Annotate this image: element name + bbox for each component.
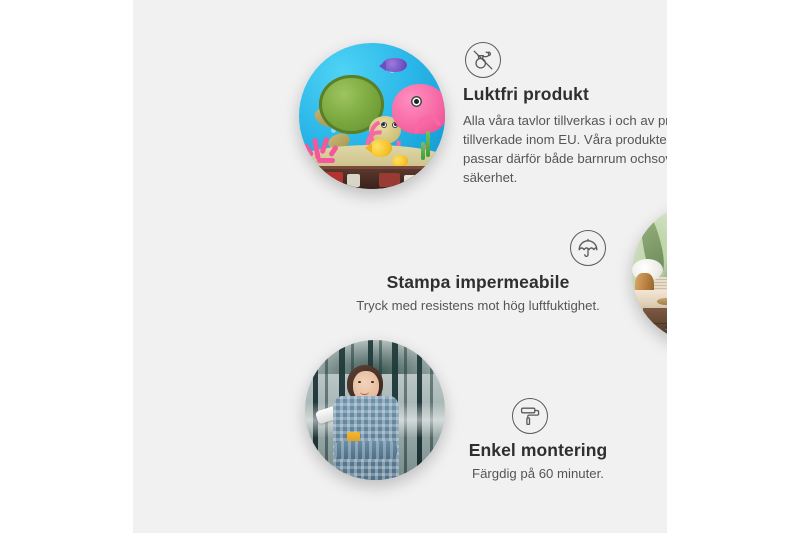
vanity-seam: [643, 323, 667, 325]
seaweed: [426, 131, 430, 157]
bottom-strip: [299, 169, 445, 189]
feature-waterproof: Stampa impermeabile Tryck med resistens …: [338, 230, 618, 315]
feature-title: Luktfri produkt: [463, 84, 667, 105]
no-odor-icon: [465, 42, 501, 78]
person-plaid-shirt: [333, 396, 399, 480]
person-eye: [371, 381, 374, 383]
feature-title: Stampa impermeabile: [338, 272, 618, 293]
person-smile: [360, 389, 369, 395]
strip-item: [379, 173, 399, 187]
person-folded-arms: [334, 441, 397, 459]
strip-item: [404, 175, 416, 187]
yellow-fish-tail: [365, 143, 372, 153]
screenshot-root: Luktfri produkt Alla våra tavlor tillver…: [0, 0, 800, 533]
feature-odorless: Luktfri produkt Alla våra tavlor tillver…: [463, 42, 667, 188]
strip-item: [347, 174, 360, 187]
product-image-underwater[interactable]: [299, 43, 445, 189]
content-panel: Luktfri produkt Alla våra tavlor tillver…: [133, 0, 667, 533]
feature-body: Färgdig på 60 minuter.: [438, 464, 638, 483]
feature-title: Enkel montering: [438, 440, 638, 461]
seaweed: [421, 142, 425, 160]
product-image-bathroom[interactable]: [632, 203, 667, 343]
person-eye: [358, 381, 361, 383]
coral-branch: [317, 158, 335, 163]
blue-fish-tail: [379, 61, 386, 71]
strip-item: [325, 172, 343, 186]
feature-body: Alla våra tavlor tillverkas i och av pro…: [463, 111, 667, 188]
paint-roller-icon: [512, 398, 548, 434]
product-image-painter[interactable]: [305, 340, 445, 480]
octopus-eye: [411, 96, 422, 107]
wood-vanity: [643, 308, 667, 343]
drawer-handle[interactable]: [665, 326, 667, 329]
feature-assembly: Enkel montering Färgdig på 60 minuter.: [438, 398, 638, 483]
umbrella-icon: [570, 230, 606, 266]
feature-body: Tryck med resistens mot hög luftfuktighe…: [338, 296, 618, 315]
